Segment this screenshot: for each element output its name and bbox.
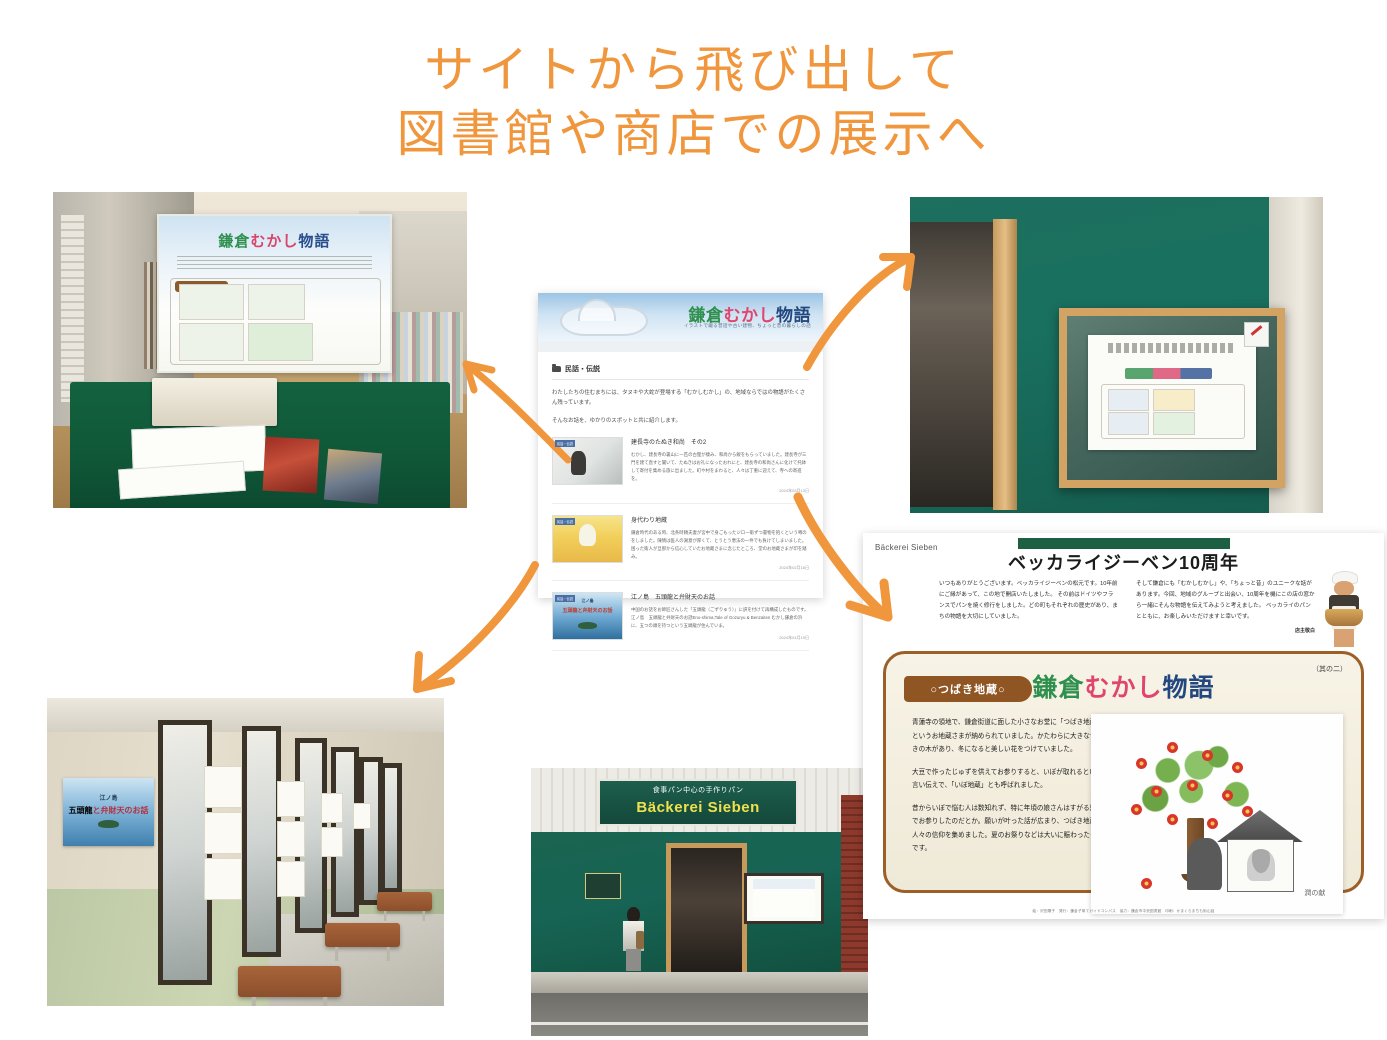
shop-doorway xyxy=(910,222,1001,506)
story-paragraph: 青蓮寺の領地で、鎌倉街道に面した小さなお堂に「つばき地蔵」というお地蔵さまが納め… xyxy=(912,716,1108,757)
poster-column-left: いつもありがとうございます。ベッカライジーベンの松元です。10年前にご縁があって… xyxy=(939,579,1118,636)
library-exhibit-panel: 鎌倉むかし物語 xyxy=(157,214,393,373)
thumb-title-2: 五頭龍と弁財天のお話 xyxy=(553,607,622,614)
corridor-bench xyxy=(377,892,433,910)
bakery-name-plate xyxy=(585,873,621,899)
corridor-bench xyxy=(238,966,341,997)
corridor-poster-line1: 江ノ島 xyxy=(63,793,154,802)
story-number-label: （其の二） xyxy=(1312,664,1347,674)
bakery-entrance-door xyxy=(666,843,747,987)
poster-credit: 絵：沢田陽子 発行：鎌倉子育てガイドコンパス 協力：鎌倉市中央図書館 印刷：かま… xyxy=(863,909,1384,914)
page-title: サイトから飛び出して 図書館や商店での展示へ xyxy=(0,38,1387,166)
article-thumbnail[interactable]: 民話・伝説 xyxy=(552,515,623,563)
story-card: ○つばき地蔵○ 鎌倉むかし物語 （其の二） 青蓮寺の領地で、鎌倉街道に面した小さ… xyxy=(883,651,1364,893)
baker-illustration-icon xyxy=(1318,571,1370,647)
corridor-artwork xyxy=(353,803,371,830)
story-body: 青蓮寺の領地で、鎌倉街道に面した小さなお堂に「つばき地蔵」というお地蔵さまが納め… xyxy=(912,716,1108,865)
corridor-bench xyxy=(325,923,400,948)
corridor-window xyxy=(242,726,282,958)
article-list-item[interactable]: 民話・伝説 江ノ島 五頭龍と弁財天のお話 江ノ島 五頭龍と弁財天のお話 中国のお… xyxy=(552,592,809,650)
camellia-tree-illustration: 潤の献 xyxy=(1091,714,1343,914)
library-panel-logo: 鎌倉むかし物語 xyxy=(159,230,391,251)
bakery-anniversary-poster: Bäckerei Sieben ベッカライジーベン10周年 いつもありがとうござ… xyxy=(863,533,1384,919)
road xyxy=(531,993,868,1036)
article-date: 2024年01月19日 xyxy=(631,635,809,641)
poster-signature: 店主敬白 xyxy=(1136,627,1315,637)
corridor-artwork xyxy=(277,861,305,897)
article-list-item[interactable]: 民話・伝説 身代わり地蔵 鎌倉時代のある時、北条時頼夫妻が宮中で身ごもったジロー… xyxy=(552,515,809,582)
library-open-book xyxy=(152,378,276,425)
bakery-window-display-case xyxy=(744,873,824,925)
library-book-red xyxy=(263,437,320,493)
shop-poster-headline xyxy=(1108,343,1236,352)
shop-door-frame xyxy=(993,219,1018,510)
shop-poster-logo xyxy=(1125,368,1213,380)
poster-message-columns: いつもありがとうございます。ベッカライジーベンの松元です。10年前にご縁があって… xyxy=(939,579,1315,636)
corridor-artwork xyxy=(204,858,242,900)
pedestrian xyxy=(622,907,646,977)
folder-icon xyxy=(552,366,561,372)
illustration-signature: 潤の献 xyxy=(1304,888,1325,898)
article-excerpt: 中国のお話をお師匠さんした「五頭龍（ごずりゅう）」に訳を付けて再構成したものです… xyxy=(631,606,809,630)
website-screenshot[interactable]: 鎌倉むかし物語 イラストで綴る昔話や古い建物、ちょっと昔の暮らしの話 民話・伝説… xyxy=(538,293,823,598)
bakery-sign-german: Bäckerei Sieben xyxy=(600,799,795,816)
story-card-logo: 鎌倉むかし物語 xyxy=(886,668,1361,704)
poster-column-right-text: そして鎌倉にも「むかしむかし」や、「ちょっと昔」のユニークな話があります。今回、… xyxy=(1136,581,1315,620)
article-thumbnail[interactable]: 民話・伝説 江ノ島 五頭龍と弁財天のお話 xyxy=(552,592,623,640)
article-excerpt: むかし、建長寺の裏山に一匹の古狸が棲み、和尚から飯をもらっていました。建長寺が三… xyxy=(631,451,809,484)
section-heading: 民話・伝説 xyxy=(552,364,809,380)
poster-title-band xyxy=(1018,538,1230,549)
article-excerpt: 鎌倉時代のある時、北条時頼夫妻が宮中で身ごもったジロー衛ずつ書物を抱くという噂の… xyxy=(631,529,809,562)
corridor-artwork xyxy=(204,766,242,808)
photo-corridor-gallery: 江ノ島 五頭龍と弁財天のお話 xyxy=(47,698,444,1006)
intro-paragraph-2: そんなお話を、ゆかりのスポットと共に紹介します。 xyxy=(552,416,809,426)
arrow-to-corridor xyxy=(395,555,545,705)
article-date: 2024年02月16日 xyxy=(631,565,809,571)
bakery-sign-japanese: 食事パン中心の手作りパン xyxy=(600,785,795,795)
photo-bakery-storefront: 食事パン中心の手作りパン Bäckerei Sieben xyxy=(531,768,868,1036)
photo-shop-window-display xyxy=(910,197,1323,513)
story-paragraph: 昔からいぼで悩む人は数知れず、特に年頃の娘さんはすがる思いでお参りしたのだとか。… xyxy=(912,802,1108,856)
library-panel-grid xyxy=(170,278,381,365)
slide-root: サイトから飛び出して 図書館や商店での展示へ 鎌倉むかし物語 xyxy=(0,0,1387,1040)
jizo-shrine xyxy=(1217,810,1303,890)
article-title[interactable]: 身代わり地蔵 xyxy=(631,515,809,524)
article-title[interactable]: 江ノ島 五頭龍と弁財天のお話 xyxy=(631,592,809,601)
corridor-poster-line2: 五頭龍と弁財天のお話 xyxy=(63,805,154,816)
poster-headline: ベッカライジーベン10周年 xyxy=(863,549,1384,575)
corridor-artwork xyxy=(204,812,242,854)
library-panel-subtext xyxy=(177,256,372,270)
library-book-blue xyxy=(324,449,382,504)
corridor-artwork xyxy=(321,793,343,823)
article-list-item[interactable]: 民話・伝説 建長寺のたぬき和尚 その2 むかし、建長寺の裏山に一匹の古狸が棲み、… xyxy=(552,437,809,504)
worshipper-figure xyxy=(1187,838,1222,890)
corridor-artwork xyxy=(277,781,305,817)
photo-library-display: 鎌倉むかし物語 xyxy=(53,192,467,508)
poster-column-right: そして鎌倉にも「むかしむかし」や、「ちょっと昔」のユニークな話があります。今回、… xyxy=(1136,579,1315,636)
cloud-icon xyxy=(560,306,648,336)
corridor-poster-island xyxy=(98,820,120,828)
shop-display-case xyxy=(1059,308,1286,488)
site-content: 民話・伝説 わたしたちの住むまちには、タヌキや大蛇が登場する「むかしむかし」の、… xyxy=(538,352,823,598)
site-tagline: イラストで綴る昔話や古い建物、ちょっと昔の暮らしの話 xyxy=(684,323,811,329)
intro-paragraph-1: わたしたちの住むまちには、タヌキや大蛇が登場する「むかしむかし」の、地域ならでは… xyxy=(552,388,809,408)
corridor-artwork xyxy=(321,827,343,857)
shop-case-poster xyxy=(1088,335,1257,450)
bakery-shop-sign: 食事パン中心の手作りパン Bäckerei Sieben xyxy=(598,779,797,826)
corridor-window xyxy=(359,757,383,906)
corridor-poster-enoshima: 江ノ島 五頭龍と弁財天のお話 xyxy=(63,778,154,846)
site-header: 鎌倉むかし物語 イラストで綴る昔話や古い建物、ちょっと昔の暮らしの話 xyxy=(538,293,823,341)
no-smoking-icon xyxy=(1244,322,1269,347)
sidewalk xyxy=(531,972,868,993)
corridor-window xyxy=(380,763,402,893)
shop-poster-grid xyxy=(1101,384,1245,439)
article-title[interactable]: 建長寺のたぬき和尚 その2 xyxy=(631,437,809,446)
article-thumbnail[interactable]: 民話・伝説 xyxy=(552,437,623,485)
corridor-artwork xyxy=(277,821,305,857)
story-paragraph: 大豆で作ったじゅずを供えてお参りすると、いぼが取れるという言い伝えで、「いぼ地蔵… xyxy=(912,766,1108,793)
article-date: 2024年03月13日 xyxy=(631,488,809,494)
